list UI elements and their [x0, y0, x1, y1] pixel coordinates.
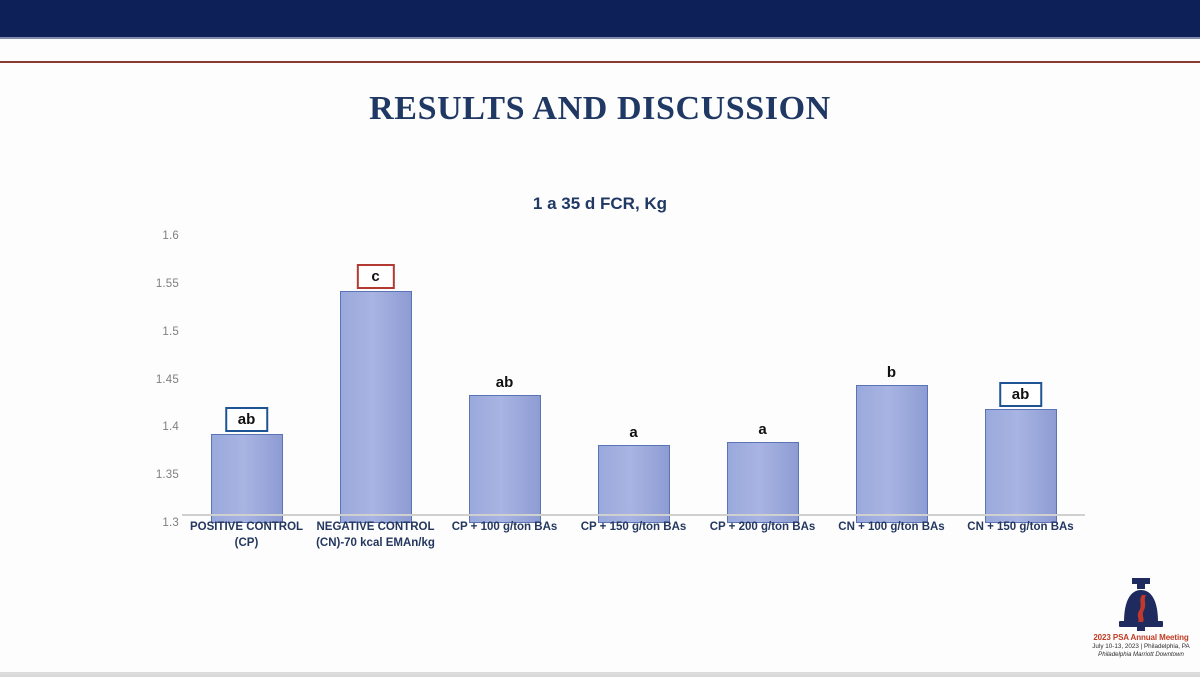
bar[interactable] [985, 409, 1057, 523]
bar[interactable] [598, 445, 670, 523]
bar-significance-label: a [625, 424, 641, 441]
plot-area: 1.31.351.41.451.51.551.6 abcabaabab [182, 236, 1085, 523]
bar-column: ab [182, 236, 311, 523]
chart-title: 1 a 35 d FCR, Kg [0, 194, 1200, 214]
x-axis-category-label: POSITIVE CONTROL (CP) [182, 520, 311, 551]
bar-significance-label: a [754, 421, 770, 438]
y-axis-tick: 1.4 [135, 421, 179, 433]
y-axis-tick: 1.45 [135, 374, 179, 386]
bar-column: a [698, 236, 827, 523]
slide: RESULTS AND DISCUSSION 1 a 35 d FCR, Kg … [0, 0, 1200, 677]
logo-venue: Philadelphia Marriott Downtown [1085, 651, 1197, 658]
x-axis-category-label: CP + 100 g/ton BAs [440, 520, 569, 536]
x-axis-category-label: CN + 150 g/ton BAs [956, 520, 1085, 536]
x-axis-category-label: NEGATIVE CONTROL (CN)-70 kcal EMAn/kg [311, 520, 440, 551]
x-axis-line [182, 514, 1085, 516]
bar-chart: 1.31.351.41.451.51.551.6 abcabaabab POSI… [145, 228, 1095, 528]
y-axis-tick: 1.5 [135, 326, 179, 338]
bar-column: ab [440, 236, 569, 523]
bar[interactable] [469, 395, 541, 523]
y-axis-tick: 1.3 [135, 517, 179, 529]
logo-dates: July 10-13, 2023 | Philadelphia, PA [1085, 643, 1197, 650]
x-axis-category-label: CP + 200 g/ton BAs [698, 520, 827, 536]
bar-significance-label: ab [492, 374, 518, 391]
bar[interactable] [727, 442, 799, 523]
slide-header-bar-shadow [0, 37, 1200, 39]
bar-column: b [827, 236, 956, 523]
bar-column: a [569, 236, 698, 523]
bar-significance-label: b [883, 364, 900, 381]
bar-significance-label: c [356, 264, 394, 289]
psa-meeting-logo: 2023 PSA Annual Meeting July 10-13, 2023… [1085, 578, 1197, 666]
x-axis-category-label: CP + 150 g/ton BAs [569, 520, 698, 536]
logo-title: 2023 PSA Annual Meeting [1085, 633, 1197, 642]
bar-column: c [311, 236, 440, 523]
page-title: RESULTS AND DISCUSSION [0, 90, 1200, 128]
y-axis-tick: 1.55 [135, 278, 179, 290]
slide-header-bar [0, 0, 1200, 37]
bar-significance-label: ab [225, 407, 269, 432]
y-axis-tick: 1.35 [135, 469, 179, 481]
y-axis: 1.31.351.41.451.51.551.6 [135, 236, 179, 523]
slide-footer-rule [0, 672, 1200, 675]
x-axis-category-label: CN + 100 g/ton BAs [827, 520, 956, 536]
bar[interactable] [211, 434, 283, 523]
liberty-bell-icon [1112, 578, 1170, 632]
y-axis-tick: 1.6 [135, 230, 179, 242]
bar[interactable] [340, 291, 412, 523]
bar-significance-label: ab [999, 382, 1043, 407]
slide-accent-rule [0, 61, 1200, 63]
bar-column: ab [956, 236, 1085, 523]
bar[interactable] [856, 385, 928, 523]
